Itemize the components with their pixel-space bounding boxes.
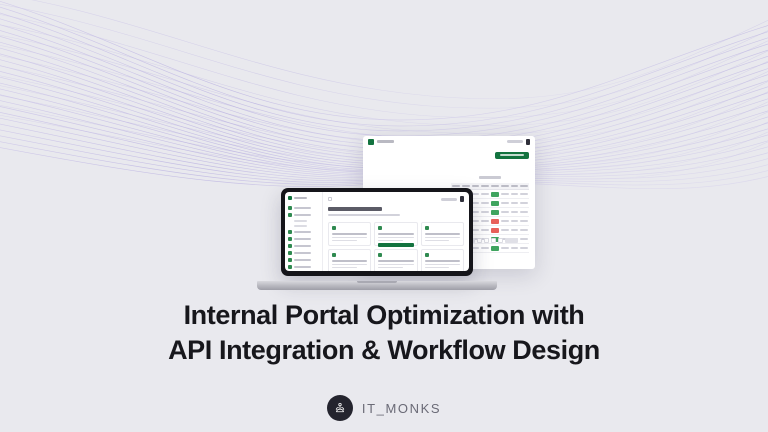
sidebar-item-label — [294, 231, 311, 233]
card-description — [332, 267, 357, 269]
brand-name: IT_MONKS — [362, 401, 441, 416]
card-title — [425, 233, 460, 235]
sidebar-subitem[interactable] — [294, 220, 307, 222]
quick-action-card[interactable] — [421, 249, 464, 271]
table-cell — [519, 199, 529, 208]
table-cell — [519, 244, 529, 253]
quick-action-card[interactable] — [328, 222, 371, 246]
sidebar-item[interactable] — [288, 206, 319, 210]
sidebar-item[interactable] — [288, 230, 319, 234]
sidebar-item-label — [294, 259, 311, 261]
browser-header — [363, 136, 535, 147]
sidebar-item-label — [294, 207, 311, 209]
table-header-cell[interactable] — [519, 183, 529, 190]
table-cell — [500, 190, 510, 199]
card-description — [425, 240, 450, 242]
sidebar-item-label — [294, 252, 311, 254]
sidebar-item[interactable] — [288, 237, 319, 241]
card-description — [332, 240, 357, 242]
laptop-notch — [364, 188, 390, 191]
table-cell — [510, 244, 520, 253]
laptop-base — [257, 281, 497, 290]
primary-cta-button[interactable] — [495, 152, 529, 159]
table-cell — [510, 208, 520, 217]
brand-logo-icon — [288, 196, 292, 200]
welcome-subheading — [328, 214, 400, 216]
topbar-actions — [441, 196, 464, 202]
quick-action-card[interactable] — [328, 249, 371, 271]
card-icon — [378, 253, 382, 257]
dashboard-icon — [288, 206, 292, 210]
sidebar-item[interactable] — [288, 251, 319, 255]
card-description — [378, 267, 403, 269]
table-cell — [510, 190, 520, 199]
brand-logo: IT_MONKS — [0, 395, 768, 421]
pagination-page[interactable] — [498, 238, 503, 243]
sidebar-subitem[interactable] — [294, 225, 307, 227]
device-mockup — [225, 134, 535, 290]
menu-icon[interactable] — [328, 197, 332, 201]
folder-icon — [288, 244, 292, 248]
card-icon — [425, 253, 429, 257]
card-description — [425, 264, 460, 266]
card-description — [378, 240, 403, 242]
dashboard-sidebar — [285, 192, 323, 271]
card-description — [332, 237, 367, 239]
card-description — [332, 264, 367, 266]
users-icon — [288, 237, 292, 241]
quick-action-card[interactable] — [421, 222, 464, 246]
chart-icon — [288, 251, 292, 255]
sidebar-item[interactable] — [288, 265, 319, 269]
sidebar-item-label — [294, 245, 311, 247]
sidebar-item[interactable] — [288, 258, 319, 262]
card-action-button[interactable] — [378, 243, 413, 247]
dashboard-topbar — [328, 196, 464, 202]
table-cell — [500, 217, 510, 226]
table-cell — [510, 226, 520, 235]
card-title — [378, 260, 413, 262]
laptop-lid — [281, 188, 473, 276]
card-description — [425, 237, 460, 239]
page-title-line-1: Internal Portal Optimization with — [0, 298, 768, 333]
card-icon — [425, 226, 429, 230]
table-cell — [500, 199, 510, 208]
page-title-line-2: API Integration & Workflow Design — [0, 333, 768, 368]
card-description — [378, 264, 413, 266]
brand-logo-text — [294, 197, 307, 200]
card-title — [332, 260, 367, 262]
table-cell — [510, 199, 520, 208]
welcome-heading — [328, 207, 382, 211]
card-description — [378, 237, 413, 239]
quick-action-card-grid — [328, 222, 464, 271]
table-header-cell[interactable] — [510, 183, 520, 190]
monk-figure-icon — [327, 395, 353, 421]
card-description — [425, 267, 450, 269]
sidebar-item[interactable] — [288, 244, 319, 248]
card-title — [378, 233, 413, 235]
settings-icon — [288, 265, 292, 269]
laptop-mockup — [257, 188, 497, 290]
avatar[interactable] — [460, 196, 464, 202]
table-cell — [519, 190, 529, 199]
card-icon — [332, 226, 336, 230]
browser-header-actions — [507, 139, 530, 145]
list-icon — [288, 213, 292, 217]
sidebar-item[interactable] — [288, 213, 319, 217]
app-logo-icon — [368, 139, 374, 145]
app-logo-text — [377, 140, 394, 143]
dashboard-main — [323, 192, 469, 271]
table-cell — [519, 226, 529, 235]
quick-action-card[interactable] — [374, 249, 417, 271]
card-icon — [332, 253, 336, 257]
table-title — [479, 176, 501, 179]
sidebar-item-label — [294, 238, 311, 240]
table-cell — [500, 244, 510, 253]
card-title — [425, 260, 460, 262]
table-cell — [519, 217, 529, 226]
nav-link[interactable] — [507, 140, 523, 143]
table-cell — [510, 217, 520, 226]
report-icon — [288, 258, 292, 262]
grid-icon — [288, 230, 292, 234]
sidebar-item-label — [294, 266, 311, 268]
pagination-next[interactable] — [505, 238, 518, 243]
sidebar-brand[interactable] — [288, 196, 319, 200]
sidebar-item-label — [294, 214, 311, 216]
nav-link[interactable] — [441, 198, 457, 201]
card-icon — [378, 226, 382, 230]
table-cell — [500, 208, 510, 217]
avatar[interactable] — [526, 139, 530, 145]
laptop-screen — [285, 192, 469, 271]
table-header-cell[interactable] — [500, 183, 510, 190]
quick-action-card[interactable] — [374, 222, 417, 246]
table-cell — [500, 226, 510, 235]
table-cell — [519, 208, 529, 217]
page-title: Internal Portal Optimization with API In… — [0, 298, 768, 367]
card-title — [332, 233, 367, 235]
